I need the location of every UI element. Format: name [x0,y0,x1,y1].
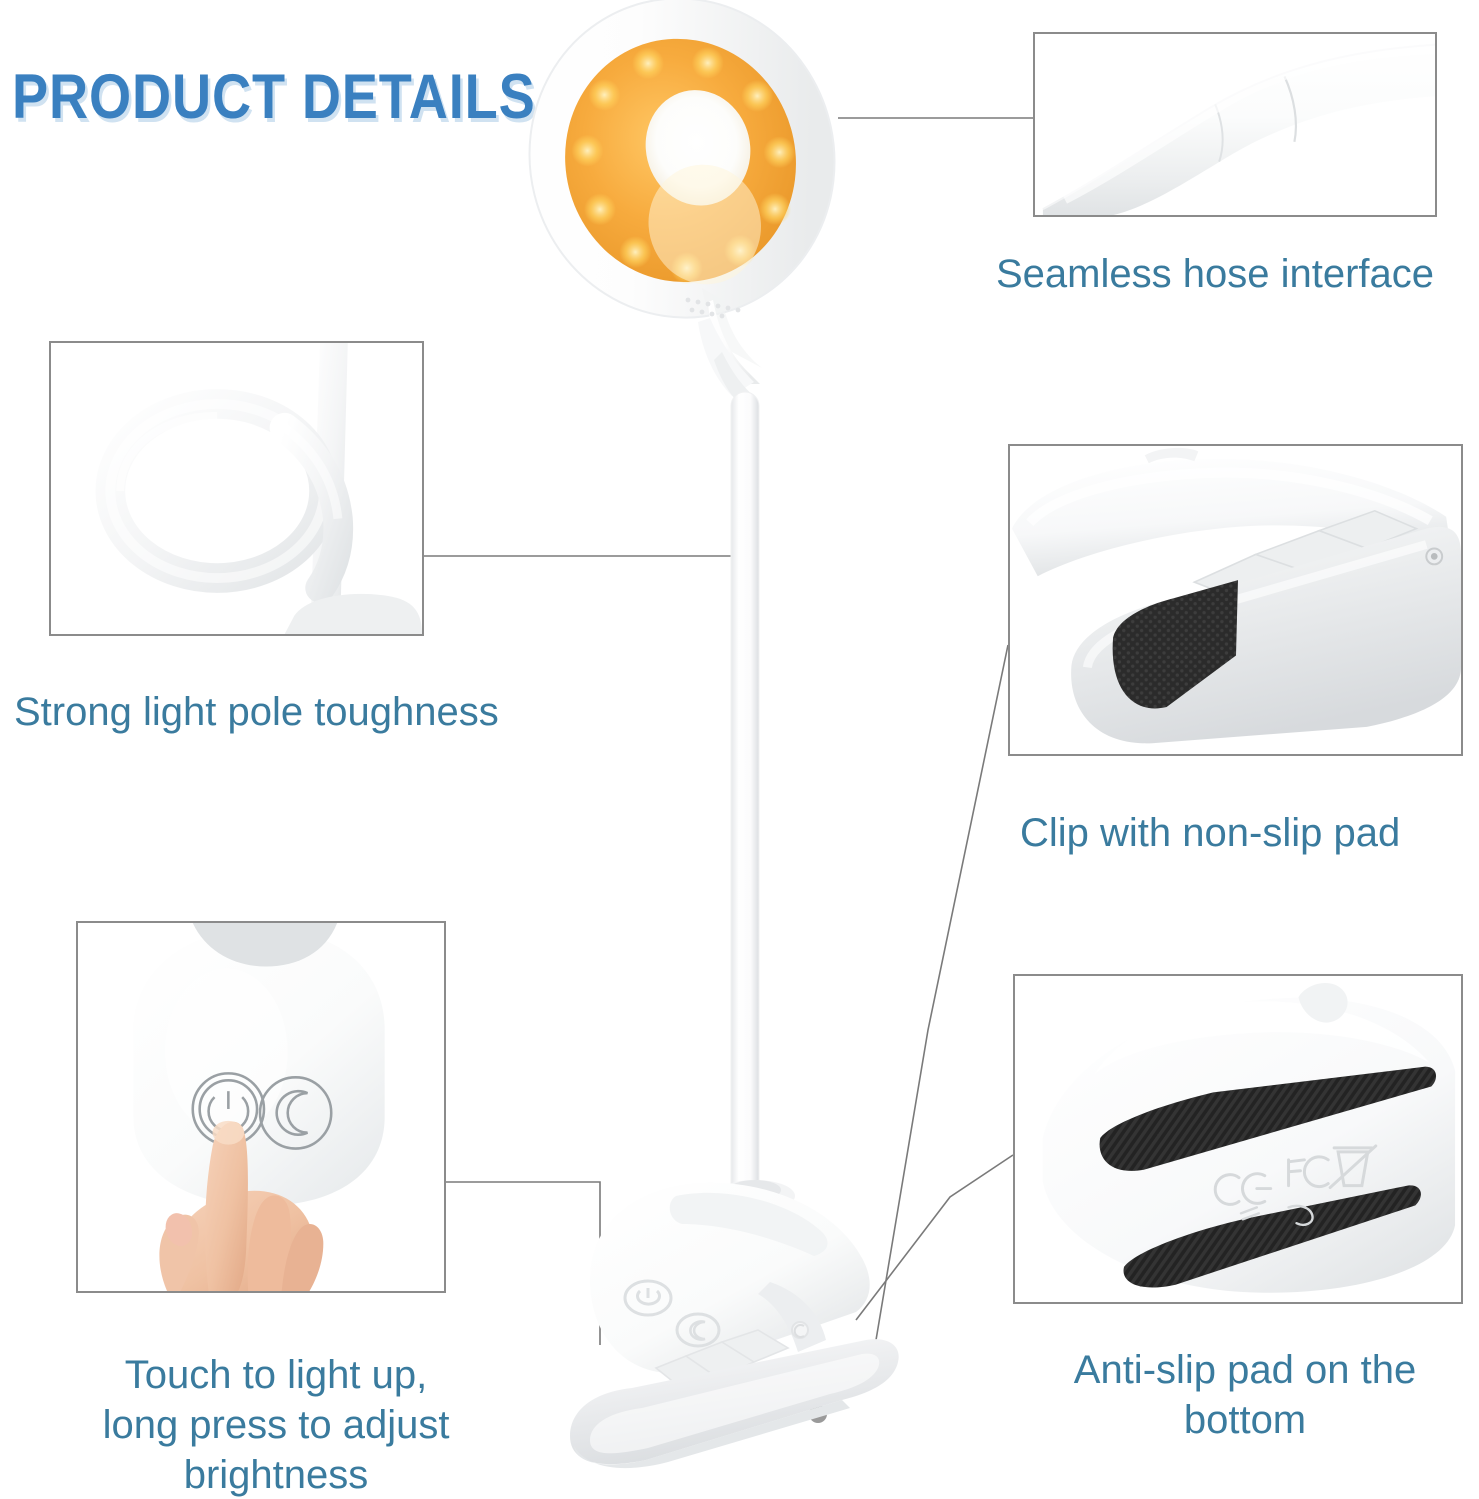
caption-touch-controls: Touch to light up, long press to adjust … [56,1350,496,1499]
gooseneck-pole [731,392,759,1200]
open-clip-jaw-with-black-pad-photo [1010,446,1461,754]
gooseneck-hose-joint-photo [1035,34,1435,215]
caption-clip-with-nonslip-pad: Clip with non-slip pad [1020,808,1400,858]
inset-antislip-bottom [1013,974,1463,1304]
clip-underside-anti-slip-strips-photo [1015,976,1461,1302]
page-title: PRODUCT DETAILS [12,66,536,129]
inset-touch-controls [76,921,446,1293]
inset-clip-with-nonslip-pad [1008,444,1463,756]
lamp-head-ring [496,0,868,350]
caption-strong-light-pole: Strong light pole toughness [14,687,499,737]
caption-antislip-bottom: Anti-slip pad on the bottom [1035,1345,1455,1445]
product-details-infographic: PRODUCT DETAILS [0,0,1479,1499]
fingertip [213,1121,245,1145]
inset-seamless-hose-interface [1033,32,1437,217]
finger-pressing-touch-buttons-photo [78,923,444,1291]
inset-strong-light-pole [49,341,424,636]
caption-seamless-hose-interface: Seamless hose interface [996,249,1434,299]
flexible-pole-knot-photo [51,343,422,634]
clip-base [570,1180,899,1468]
product-illustration [470,0,930,1499]
